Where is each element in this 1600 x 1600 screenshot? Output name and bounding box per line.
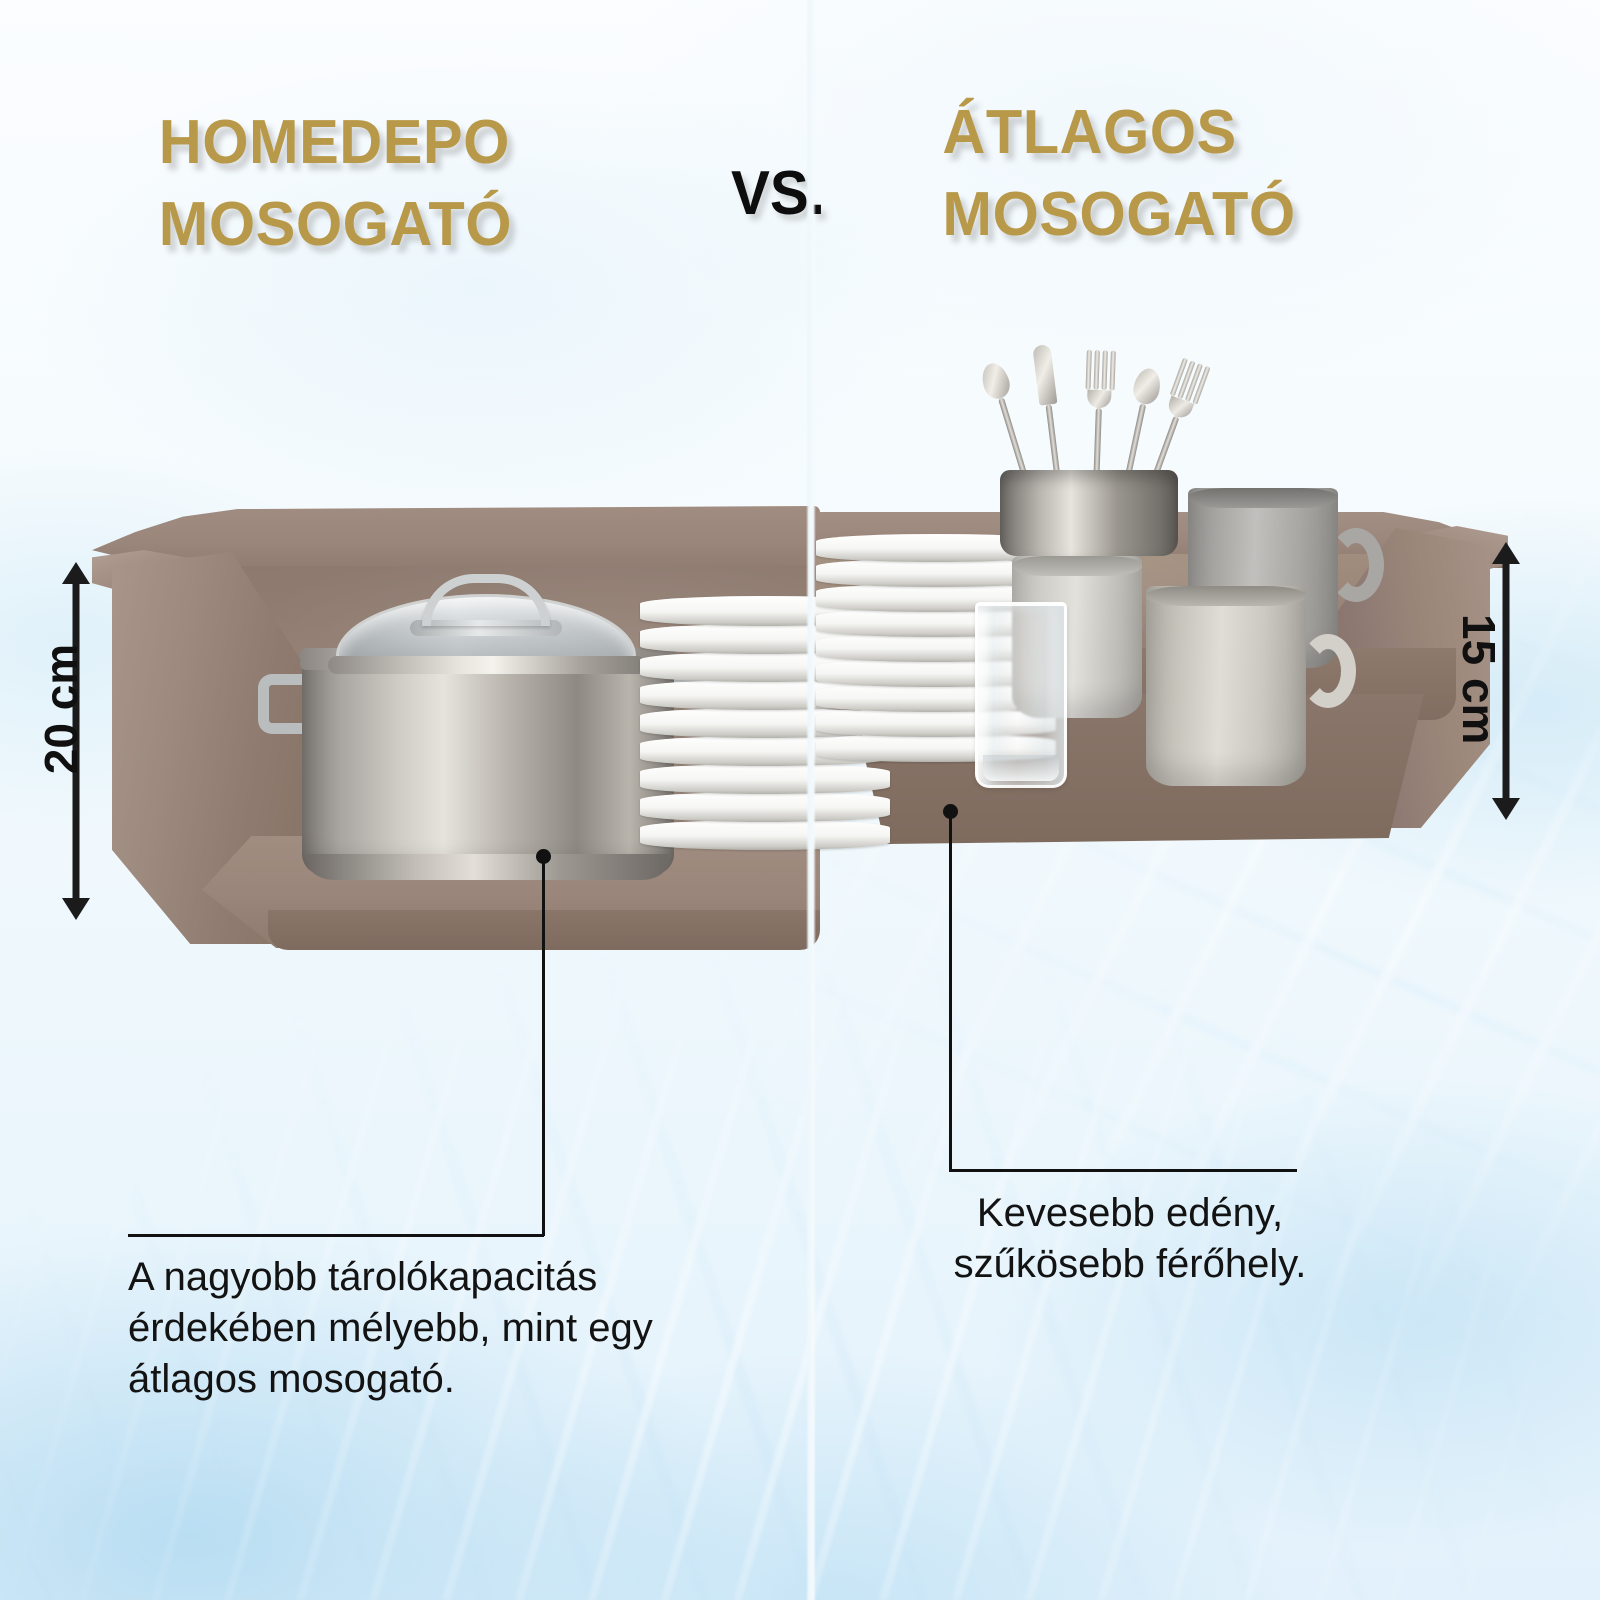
pot-body: [302, 656, 674, 876]
callout-leader-horizontal: [949, 1169, 1297, 1172]
callout-right-text: Kevesebb edény, szűkösebb férőhely.: [900, 1188, 1360, 1290]
comparison-split-divider: [806, 0, 816, 1600]
left-title-line1: HOMEDEPO: [159, 108, 510, 177]
depth-measure-right: 15 cm: [1488, 542, 1524, 820]
pot-lid-knob: [422, 574, 550, 626]
mug-handle: [1300, 634, 1356, 708]
arrow-head-down-icon: [1492, 798, 1520, 820]
fork-tines-2: [1170, 357, 1210, 404]
right-title-line1: ÁTLAGOS: [942, 98, 1236, 167]
right-product-title: ÁTLAGOS MOSOGATÓ: [942, 102, 1537, 246]
depth-value-right: 15 cm: [1452, 614, 1506, 744]
pot-lid-rim: [328, 656, 646, 674]
drinking-glass: [975, 602, 1067, 788]
depth-measure-left: 20 cm: [58, 562, 94, 920]
callout-leader-vertical: [949, 811, 952, 1171]
mug-body: [1146, 586, 1306, 786]
cutlery-caddy: [994, 366, 1184, 556]
pot-base: [308, 854, 668, 880]
left-product-title: HOMEDEPO MOSOGATÓ: [159, 112, 773, 256]
callout-leader-horizontal: [128, 1234, 544, 1237]
spoon-bowl: [978, 360, 1013, 402]
callout-left-text: A nagyobb tárolókapacitás érdekében mély…: [128, 1252, 668, 1406]
mug-rim: [1188, 488, 1338, 508]
fork-neck: [1087, 390, 1112, 409]
depth-value-left: 20 cm: [34, 644, 88, 774]
caddy-cup: [1000, 470, 1178, 556]
arrow-head-down-icon: [62, 898, 90, 920]
right-title-line2: MOSOGATÓ: [942, 184, 1537, 246]
left-title-line2: MOSOGATÓ: [159, 194, 773, 256]
knife-blade: [1032, 344, 1057, 406]
spoon-bowl-2: [1131, 366, 1164, 407]
fork-tines: [1085, 350, 1114, 391]
cream-mug: [1146, 586, 1306, 786]
mug-rim: [1146, 586, 1306, 606]
plate: [640, 820, 890, 850]
mug-rim: [1012, 556, 1142, 576]
plate: [640, 792, 890, 822]
callout-leader-vertical: [542, 856, 545, 1236]
